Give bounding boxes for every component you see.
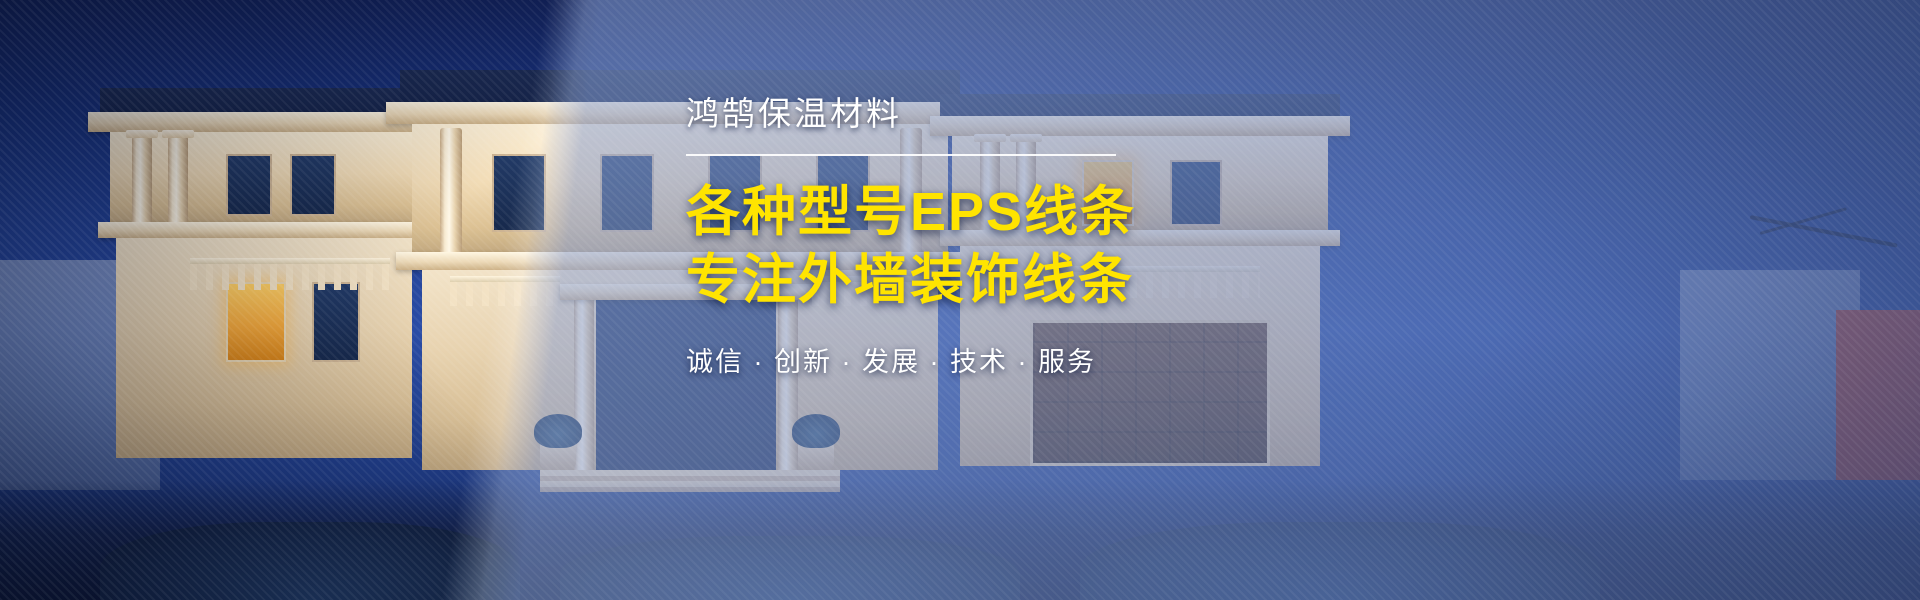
promo-banner: 鸿鹄保温材料 各种型号EPS线条 专注外墙装饰线条 诚信 · 创新 · 发展 ·…: [0, 0, 1920, 600]
headline-line-1: 各种型号EPS线条: [686, 178, 1326, 246]
title-divider: [686, 154, 1116, 156]
headline-line-2: 专注外墙装饰线条: [686, 246, 1326, 314]
headline-group: 各种型号EPS线条 专注外墙装饰线条: [686, 178, 1326, 314]
banner-text-block: 鸿鹄保温材料 各种型号EPS线条 专注外墙装饰线条 诚信 · 创新 · 发展 ·…: [686, 96, 1326, 379]
brand-name: 鸿鹄保温材料: [686, 96, 1326, 132]
tagline: 诚信 · 创新 · 发展 · 技术 · 服务: [686, 340, 1326, 379]
